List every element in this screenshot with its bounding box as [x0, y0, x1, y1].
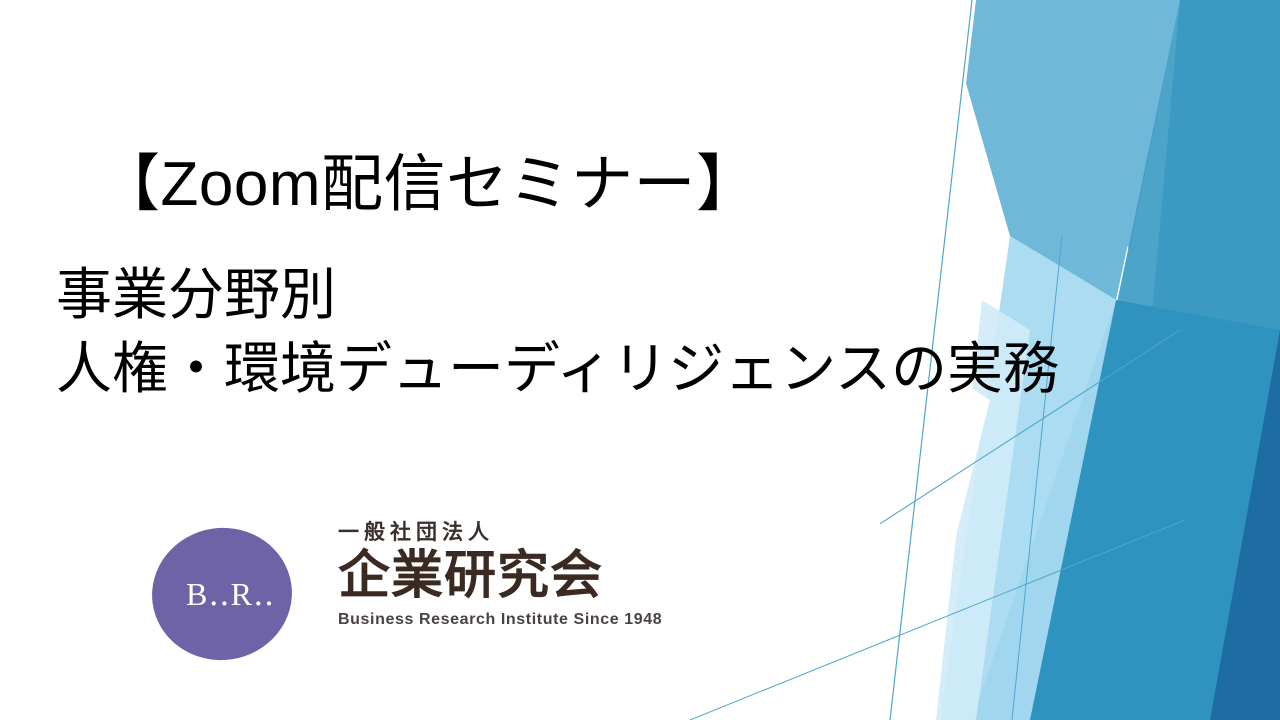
bri-oval-mark: B‥R‥I	[152, 528, 307, 660]
organization-name: 企業研究会	[338, 550, 708, 603]
bri-initials: B‥R‥I	[152, 528, 307, 660]
page-title: 【Zoom配信セミナー】	[98, 152, 758, 217]
shard-light-top	[942, 0, 1180, 300]
subtitle-line-1: 事業分野別	[56, 258, 1059, 332]
shard-steel-mid	[1030, 0, 1280, 720]
logo-wordmark: 一般社団法人 企業研究会 Business Research Institute…	[338, 522, 708, 629]
shard-deep-right-lower	[1180, 330, 1280, 720]
shard-light-top-inner	[976, 0, 1180, 250]
hairline-extended	[690, 520, 1185, 720]
organization-tagline: Business Research Institute Since 1948	[338, 611, 708, 629]
subtitle: 事業分野別 人権・環境デューディリジェンスの実務	[56, 258, 1059, 406]
slide-canvas: 【Zoom配信セミナー】 事業分野別 人権・環境デューディリジェンスの実務 B‥…	[0, 0, 1280, 720]
subtitle-line-2: 人権・環境デューディリジェンスの実務	[56, 332, 1059, 406]
organization-kind: 一般社団法人	[338, 522, 708, 543]
bri-initials-letters: B‥R‥	[186, 575, 275, 613]
shard-dark-right	[1116, 0, 1280, 720]
bri-initials-bar: I	[275, 576, 287, 613]
organization-logo: B‥R‥I 一般社団法人 企業研究会 Business Research Ins…	[152, 522, 712, 667]
